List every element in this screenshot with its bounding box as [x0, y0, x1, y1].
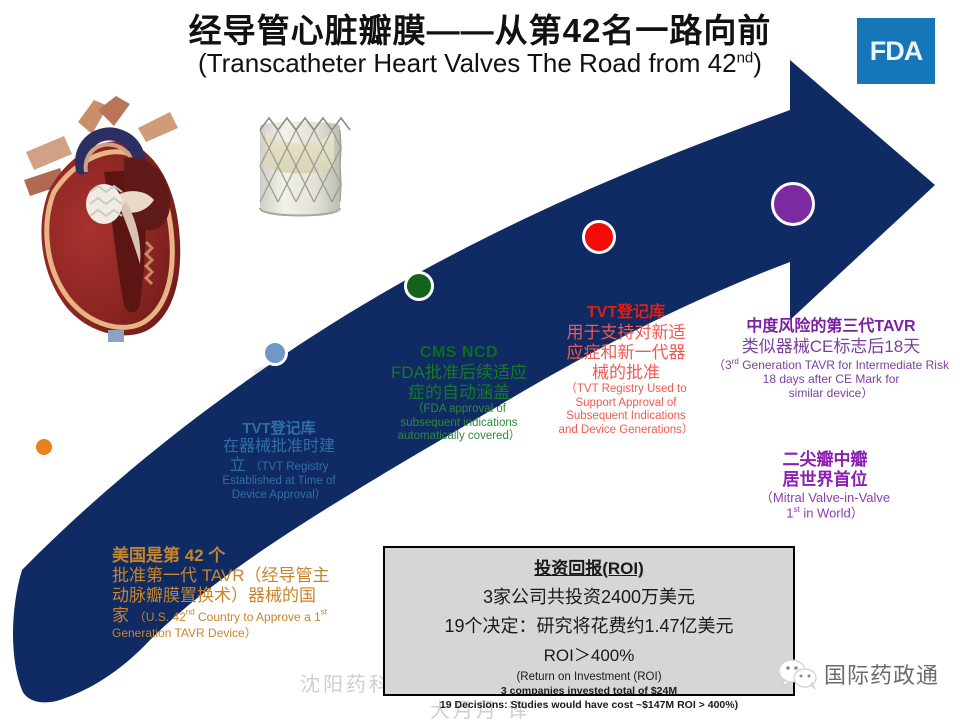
roi-zh-2: 19个决定：研究将花费约1.47亿美元 — [385, 612, 793, 638]
page-title-chinese: 经导管心脏瓣膜——从第42名一路向前 — [0, 4, 960, 52]
callout-blue-en-1: （TVT Registry — [250, 461, 328, 473]
wechat-brand: 国际药政通 — [778, 658, 939, 690]
callout-purple-en-3: similar device） — [700, 386, 960, 400]
callout-purple-sup-rd: rd — [732, 357, 739, 366]
callout-red-en-2: Support Approval of — [538, 397, 714, 411]
fda-logo: FDA — [857, 18, 935, 84]
callout-blue-heading: TVT登记库 — [196, 420, 362, 438]
fda-logo-label: FDA — [870, 36, 923, 67]
callout-red-zh-3: 械的批准 — [538, 363, 714, 383]
callout-green-zh-2: 症的自动涵盖 — [368, 383, 550, 403]
milestone-dot-purple — [771, 182, 815, 226]
page-title-english: (Transcatheter Heart Valves The Road fro… — [0, 48, 960, 79]
callout-tvt-registry-support-approval: TVT登记库 用于支持对新适 应症和新一代器 械的批准 （TVT Registr… — [538, 304, 714, 437]
wechat-brand-label: 国际药政通 — [824, 658, 939, 690]
callout-orange-en-1a: （U.S. 42 — [134, 610, 186, 624]
callout-purple-zh-1: 类似器械CE标志后18天 — [700, 337, 960, 357]
title-en-ordinal: nd — [737, 49, 754, 66]
roi-en-1: (Return on Investment (ROI) — [385, 671, 793, 683]
roi-summary-box: 投资回报(ROI) 3家公司共投资2400万美元 19个决定：研究将花费约1.4… — [383, 546, 795, 696]
callout-orange-sup-st: st — [321, 607, 327, 616]
callout-green-heading: CMS NCD — [368, 344, 550, 363]
callout-orange-heading: 美国是第 42 个 — [112, 546, 362, 566]
callout-purple2-heading-2: 居世界首位 — [700, 470, 950, 490]
callout-orange-zh-1: 批准第一代 TAVR（经导管主 — [112, 566, 362, 586]
roi-zh-1: 3家公司共投资2400万美元 — [385, 583, 793, 609]
callout-green-zh-1: FDA批准后续适应 — [368, 363, 550, 383]
callout-blue-zh-2-and-en: 立 （TVT Registry — [196, 457, 362, 476]
callout-red-en-1: （TVT Registry Used to — [538, 383, 714, 397]
callout-purple2-en-1: （Mitral Valve-in-Valve — [700, 490, 950, 505]
callout-cms-ncd: CMS NCD FDA批准后续适应 症的自动涵盖 （FDA approval o… — [368, 344, 550, 444]
callout-blue-zh-1: 在器械批准时建 — [196, 438, 362, 457]
milestone-dot-red — [582, 220, 616, 254]
callout-orange-zh-2: 动脉瓣膜置换术）器械的国 — [112, 586, 362, 606]
callout-orange-zh-3: 家 — [112, 606, 129, 625]
roi-title: 投资回报(ROI) — [385, 554, 793, 579]
callout-purple-en-1a: （3 — [713, 358, 732, 372]
heart-anatomy-illustration — [20, 92, 220, 342]
callout-mitral-valve-in-valve: 二尖瓣中瓣 居世界首位 （Mitral Valve-in-Valve 1st i… — [700, 450, 950, 521]
callout-purple-heading: 中度风险的第三代TAVR — [700, 318, 960, 337]
callout-purple2-heading-1: 二尖瓣中瓣 — [700, 450, 950, 470]
callout-orange-sup-nd: nd — [186, 607, 195, 616]
roi-en-3: 19 Decisions: Studies would have cost ~$… — [385, 699, 793, 711]
callout-blue-en-2: Established at Time of — [196, 475, 362, 489]
callout-purple-en-1b: Generation TAVR for Intermediate Risk — [739, 358, 949, 372]
callout-green-en-2: subsequent indications — [368, 417, 550, 431]
callout-blue-zh-2: 立 — [230, 457, 246, 474]
milestone-dot-green — [404, 271, 434, 301]
callout-purple2-en-2: 1st in World） — [700, 505, 950, 521]
wechat-icon — [778, 658, 818, 690]
callout-blue-en-3: Device Approval） — [196, 489, 362, 503]
callout-green-en-3: automatically covered） — [368, 430, 550, 444]
callout-red-en-3: Subsequent Indications — [538, 410, 714, 424]
milestone-dot-orange — [33, 436, 55, 458]
milestone-dot-light-blue — [262, 340, 288, 366]
callout-orange-en-1b: Country to Approve a 1 — [195, 610, 321, 624]
callout-purple-en-2: 18 days after CE Mark for — [700, 372, 960, 386]
transcatheter-valve-stent-image — [232, 96, 368, 230]
title-en-main: (Transcatheter Heart Valves The Road fro… — [198, 48, 737, 78]
roi-en-2: 3 companies invested total of $24M — [385, 685, 793, 697]
callout-red-zh-2: 应症和新一代器 — [538, 343, 714, 363]
callout-us-42nd-country: 美国是第 42 个 批准第一代 TAVR（经导管主 动脉瓣膜置换术）器械的国 家… — [112, 546, 362, 640]
callout-third-generation-tavr: 中度风险的第三代TAVR 类似器械CE标志后18天 （3rd Generatio… — [700, 318, 960, 400]
callout-orange-en-2: Generation TAVR Device） — [112, 626, 362, 640]
callout-purple2-en-2b: in World） — [800, 506, 864, 521]
callout-orange-zh-3-and-en: 家 （U.S. 42nd Country to Approve a 1st — [112, 606, 362, 626]
callout-purple-en-1: （3rd Generation TAVR for Intermediate Ri… — [700, 357, 960, 372]
callout-tvt-registry-established: TVT登记库 在器械批准时建 立 （TVT Registry Establish… — [196, 420, 362, 503]
callout-red-zh-1: 用于支持对新适 — [538, 323, 714, 343]
callout-red-en-4: and Device Generations） — [538, 424, 714, 438]
title-en-tail: ) — [753, 48, 762, 78]
callout-red-heading: TVT登记库 — [538, 304, 714, 323]
callout-green-en-1: （FDA approval of — [368, 403, 550, 417]
slide-canvas: IFPMA — [0, 0, 960, 720]
roi-zh-3: ROI＞400% — [385, 641, 793, 666]
